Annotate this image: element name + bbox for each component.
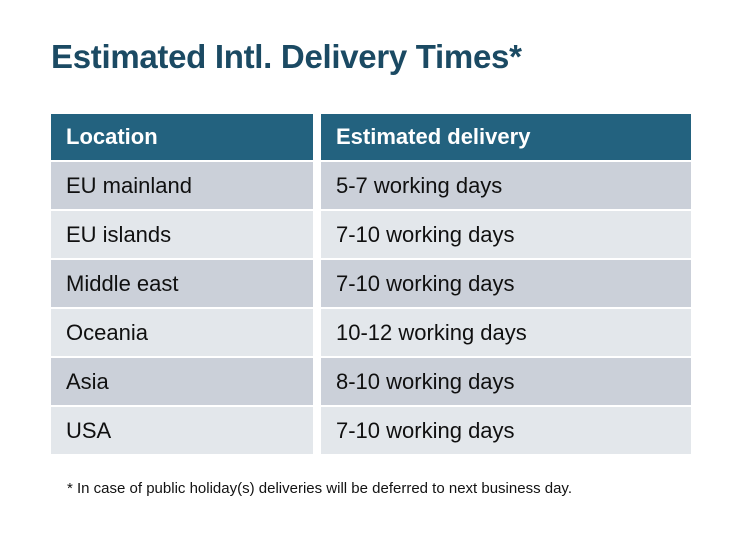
delivery-times-table: Location Estimated delivery EU mainland … [51, 114, 691, 456]
table-row: USA 7-10 working days [51, 407, 691, 454]
cell-location: Middle east [51, 260, 313, 307]
table-row: Asia 8-10 working days [51, 358, 691, 405]
page-title: Estimated Intl. Delivery Times* [51, 38, 522, 76]
column-header-location: Location [51, 114, 313, 160]
cell-location: Asia [51, 358, 313, 405]
table-row: EU islands 7-10 working days [51, 211, 691, 258]
cell-delivery: 5-7 working days [321, 162, 691, 209]
cell-delivery: 7-10 working days [321, 260, 691, 307]
column-divider [313, 407, 321, 454]
cell-location: EU mainland [51, 162, 313, 209]
delivery-times-page: Estimated Intl. Delivery Times* Location… [0, 0, 745, 536]
table-header-row: Location Estimated delivery [51, 114, 691, 160]
table-row: Oceania 10-12 working days [51, 309, 691, 356]
column-divider [313, 211, 321, 258]
cell-delivery: 10-12 working days [321, 309, 691, 356]
column-divider [313, 358, 321, 405]
cell-location: Oceania [51, 309, 313, 356]
column-divider [313, 162, 321, 209]
column-divider [313, 114, 321, 160]
column-header-estimated-delivery: Estimated delivery [321, 114, 691, 160]
cell-location: EU islands [51, 211, 313, 258]
column-divider [313, 260, 321, 307]
cell-delivery: 8-10 working days [321, 358, 691, 405]
cell-delivery: 7-10 working days [321, 211, 691, 258]
table-row: Middle east 7-10 working days [51, 260, 691, 307]
table-row: EU mainland 5-7 working days [51, 162, 691, 209]
cell-location: USA [51, 407, 313, 454]
cell-delivery: 7-10 working days [321, 407, 691, 454]
footnote-text: * In case of public holiday(s) deliverie… [67, 480, 572, 497]
column-divider [313, 309, 321, 356]
